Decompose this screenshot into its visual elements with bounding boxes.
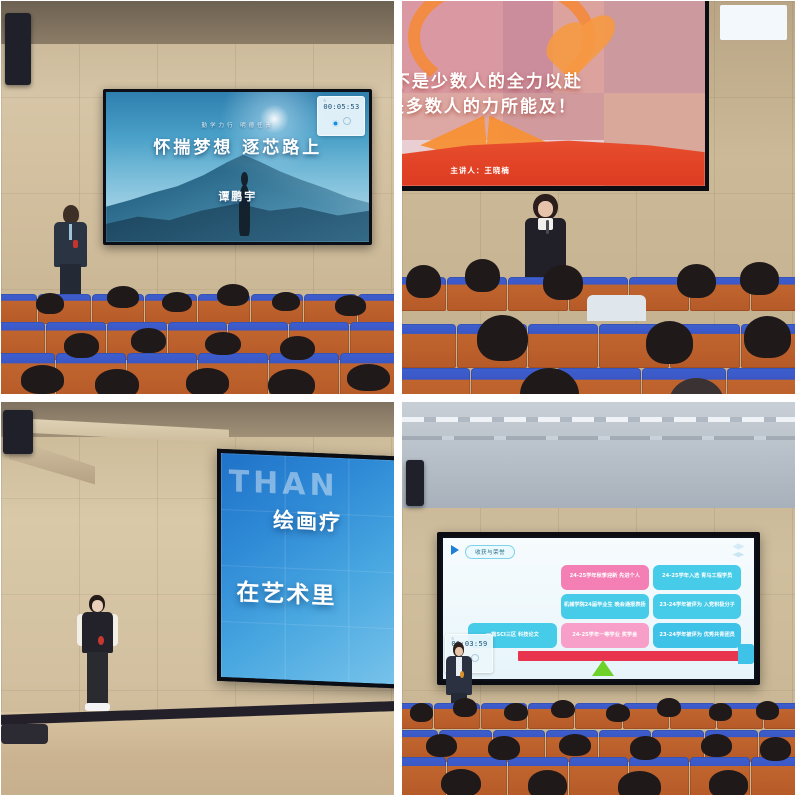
audience-seating [402,677,795,795]
presenter-label: 主讲人：王晓楠 [450,165,510,176]
slide-title: 怀揣梦想 逐芯路上 [106,133,369,158]
slide-line-1: 绘画疗 [273,504,342,537]
cable-bundle [1,724,48,744]
panel-top-left: 勤学力行 明德任责 怀揣梦想 逐芯路上 谭鹏宇 ⏱ 00:05:53 [1,1,394,394]
achievement-card-grid: 24-25学年秋季迎新 先进个人 24-25学年入选 青马工程学员 机械学院24… [468,565,741,648]
achievement-card: 24-25学年秋季迎新 先进个人 [561,565,649,590]
slide-background: 收获与荣誉 24-25学年秋季迎新 先进个人 24-25学年入选 青马工程学员 … [443,538,753,679]
achievement-card: 23-24学年被评为 入党积极分子 [653,594,741,619]
photo-collage: 勤学力行 明德任责 怀揣梦想 逐芯路上 谭鹏宇 ⏱ 00:05:53 [0,0,800,800]
projection-screen: 不是少数人的全力以赴 是多数人的力所能及！ 主讲人：王晓楠 [402,1,709,191]
achievement-card: 24-25学年入选 青马工程学员 [653,565,741,590]
achievement-card [468,594,556,619]
timer-overlay[interactable] [720,5,787,40]
timer-controls[interactable] [323,112,359,131]
face [92,600,103,611]
section-label: 收获与荣誉 [465,545,515,559]
slide-line-2: 在艺术里 [237,572,337,610]
timer-overlay[interactable]: ⏱ 00:05:53 [317,96,365,135]
timer-value: 00:05:53 [323,104,359,112]
logo-icon [732,543,744,553]
green-triangle-icon [592,660,614,676]
ceiling [1,1,394,44]
play-triangle-icon [451,545,459,555]
progress-bar [518,651,745,661]
loudspeaker-icon [406,460,424,506]
achievement-card: 23-24学年被评为 优秀共青团员 [653,623,741,648]
vest-body [82,612,113,653]
loudspeaker-icon [5,13,31,85]
presenter-female [80,595,115,709]
timer-reset-icon[interactable] [343,117,351,125]
loudspeaker-icon [3,410,33,454]
achievement-card: 机械学院24届毕业生 晚会通报表扬 [561,594,649,619]
progress-bar-end-tab [738,644,754,664]
slide-line-2: 是多数人的力所能及！ [402,92,686,117]
led-screen: 勤学力行 明德任责 怀揣梦想 逐芯路上 谭鹏宇 ⏱ 00:05:53 [103,89,372,244]
slide-line-1: 不是少数人的全力以赴 [402,67,686,92]
achievement-card: 24-25学年一等学业 奖学金 [561,623,649,648]
panel-bottom-left: THAN 绘画疗 在艺术里 [1,402,394,795]
necktie [69,224,72,240]
face [455,647,463,656]
logo-icon-secondary [732,550,744,558]
projection-screen: THAN 绘画疗 在艺术里 [217,449,394,689]
presenter-name: 谭鹏宇 [106,188,369,204]
ceiling-with-lights [402,402,795,508]
panel-bottom-right: 收获与荣誉 24-25学年秋季迎新 先进个人 24-25学年入选 青马工程学员 … [402,402,795,795]
led-screen: 收获与荣誉 24-25学年秋季迎新 先进个人 24-25学年入选 青马工程学员 … [437,532,759,685]
seated-person-jacket [587,295,646,321]
stage-floor [1,712,394,795]
legs [87,652,108,704]
slide-watermark: THAN [229,465,339,505]
timer-play-icon[interactable] [332,120,339,127]
badge-icon [73,240,77,248]
shoes [85,703,110,711]
badge-icon [98,636,104,645]
timer-caption: ⏱ [323,100,359,104]
slide-background: THAN 绘画疗 在艺术里 [221,453,394,685]
panel-top-right: 不是少数人的全力以赴 是多数人的力所能及！ 主讲人：王晓楠 [402,1,795,394]
audience-seating [402,229,795,394]
face [538,201,554,217]
audience-seating [1,264,394,394]
achievement-card [468,565,556,590]
